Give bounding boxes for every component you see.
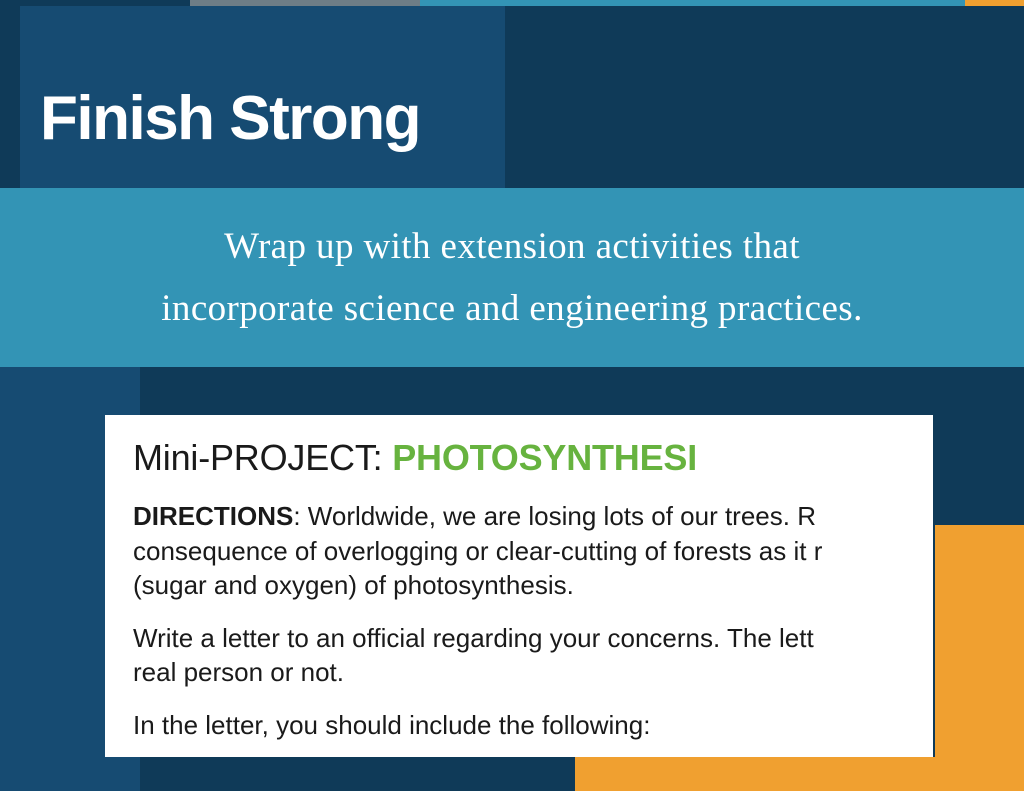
worksheet-heading: Mini-PROJECT: PHOTOSYNTHESI [133, 437, 933, 479]
subtitle-line-1: Wrap up with extension activities that [224, 216, 800, 277]
worksheet-line-text: : Worldwide, we are losing lots of our t… [293, 501, 816, 531]
page-title: Finish Strong [20, 88, 420, 188]
worksheet-line: consequence of overlogging or clear-cutt… [133, 534, 933, 569]
subtitle-band: Wrap up with extension activities that i… [0, 188, 1024, 367]
navy-accent-bottom [140, 757, 575, 791]
worksheet-paragraph-include: In the letter, you should include the fo… [133, 708, 933, 743]
orange-accent-right [935, 525, 1024, 791]
directions-label: DIRECTIONS [133, 501, 293, 531]
worksheet-line: (sugar and oxygen) of photosynthesis. [133, 568, 933, 603]
worksheet-line: real person or not. [133, 655, 933, 690]
orange-accent-bottom [575, 757, 1024, 791]
subtitle-line-2: incorporate science and engineering prac… [161, 278, 863, 339]
worksheet-line: Write a letter to an official regarding … [133, 621, 933, 656]
worksheet-paragraph-directions: DIRECTIONS: Worldwide, we are losing lot… [133, 499, 933, 603]
slide-canvas: Finish Strong Wrap up with extension act… [0, 0, 1024, 791]
worksheet-heading-highlight: PHOTOSYNTHESI [392, 437, 697, 478]
worksheet-image-card: Mini-PROJECT: PHOTOSYNTHESI DIRECTIONS: … [105, 415, 933, 757]
top-strip-orange [965, 0, 1024, 6]
worksheet-paragraph-letter: Write a letter to an official regarding … [133, 621, 933, 690]
worksheet-line: In the letter, you should include the fo… [133, 708, 933, 743]
worksheet-line: DIRECTIONS: Worldwide, we are losing lot… [133, 499, 933, 534]
title-block: Finish Strong [20, 6, 505, 188]
worksheet-heading-prefix: Mini-PROJECT: [133, 437, 392, 478]
worksheet-content: Mini-PROJECT: PHOTOSYNTHESI DIRECTIONS: … [105, 415, 933, 742]
